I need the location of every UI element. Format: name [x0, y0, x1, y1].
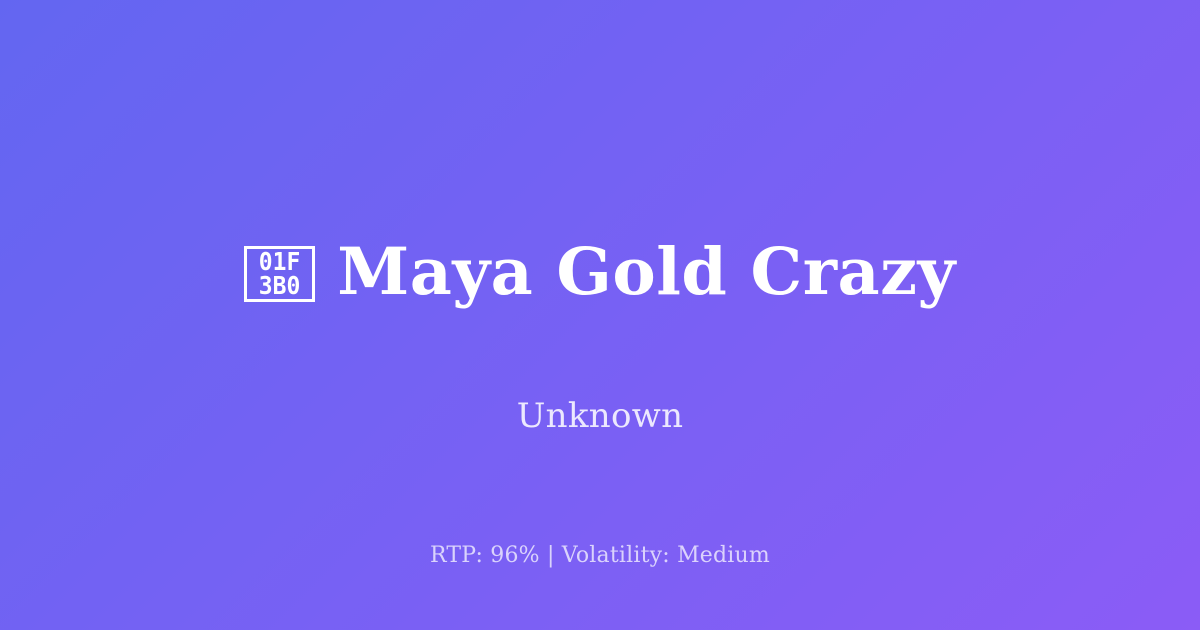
title-row: 01F 3B0 Maya Gold Crazy [204, 194, 996, 349]
game-preview-card: 01F 3B0 Maya Gold Crazy Unknown RTP: 96%… [0, 0, 1200, 630]
provider-label: Unknown [517, 396, 684, 436]
page-title: Maya Gold Crazy [337, 238, 956, 306]
game-stats: RTP: 96% | Volatility: Medium [0, 543, 1200, 568]
slot-machine-icon-codepoint-lower: 3B0 [259, 274, 301, 298]
slot-machine-icon: 01F 3B0 [244, 246, 315, 302]
